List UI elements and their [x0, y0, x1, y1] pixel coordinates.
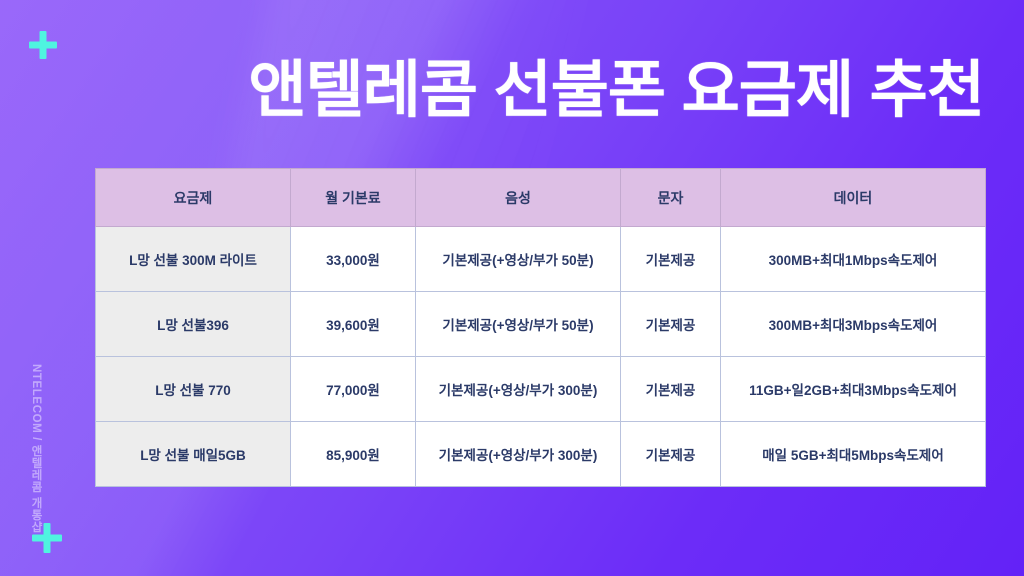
cell-price: 33,000원 — [291, 227, 416, 292]
cell-price: 85,900원 — [291, 422, 416, 487]
cell-voice: 기본제공(+영상/부가 50분) — [416, 292, 621, 357]
cell-voice: 기본제공(+영상/부가 50분) — [416, 227, 621, 292]
cell-price: 77,000원 — [291, 357, 416, 422]
cell-sms: 기본제공 — [621, 227, 721, 292]
cell-voice: 기본제공(+영상/부가 300분) — [416, 422, 621, 487]
cell-plan: L망 선불396 — [96, 292, 291, 357]
cell-plan: L망 선불 매일5GB — [96, 422, 291, 487]
column-header-voice: 음성 — [416, 169, 621, 227]
page-title: 앤텔레콤 선불폰 요금제 추천 — [0, 58, 984, 123]
cell-data: 300MB+최대3Mbps속도제어 — [721, 292, 986, 357]
table-header-row: 요금제 월 기본료 음성 문자 데이터 — [96, 169, 986, 227]
rate-plan-table: 요금제 월 기본료 음성 문자 데이터 L망 선불 300M 라이트 33,00… — [95, 168, 986, 487]
table-row: L망 선불 매일5GB 85,900원 기본제공(+영상/부가 300분) 기본… — [96, 422, 986, 487]
cell-data: 매일 5GB+최대5Mbps속도제어 — [721, 422, 986, 487]
cell-data: 11GB+일2GB+최대3Mbps속도제어 — [721, 357, 986, 422]
side-caption: NTELECOM / 앤텔레콤 개통샵 — [28, 364, 44, 533]
rate-plan-table-wrapper: 요금제 월 기본료 음성 문자 데이터 L망 선불 300M 라이트 33,00… — [95, 168, 985, 487]
cell-sms: 기본제공 — [621, 292, 721, 357]
cell-plan: L망 선불 770 — [96, 357, 291, 422]
table-row: L망 선불396 39,600원 기본제공(+영상/부가 50분) 기본제공 3… — [96, 292, 986, 357]
cell-voice: 기본제공(+영상/부가 300분) — [416, 357, 621, 422]
cell-plan: L망 선불 300M 라이트 — [96, 227, 291, 292]
cell-sms: 기본제공 — [621, 357, 721, 422]
column-header-plan: 요금제 — [96, 169, 291, 227]
table-row: L망 선불 770 77,000원 기본제공(+영상/부가 300분) 기본제공… — [96, 357, 986, 422]
cell-sms: 기본제공 — [621, 422, 721, 487]
plus-icon — [29, 31, 57, 59]
column-header-sms: 문자 — [621, 169, 721, 227]
column-header-price: 월 기본료 — [291, 169, 416, 227]
column-header-data: 데이터 — [721, 169, 986, 227]
cell-price: 39,600원 — [291, 292, 416, 357]
cell-data: 300MB+최대1Mbps속도제어 — [721, 227, 986, 292]
slide-canvas: NTELECOM / 앤텔레콤 개통샵 앤텔레콤 선불폰 요금제 추천 요금제 … — [0, 0, 1024, 576]
table-row: L망 선불 300M 라이트 33,000원 기본제공(+영상/부가 50분) … — [96, 227, 986, 292]
